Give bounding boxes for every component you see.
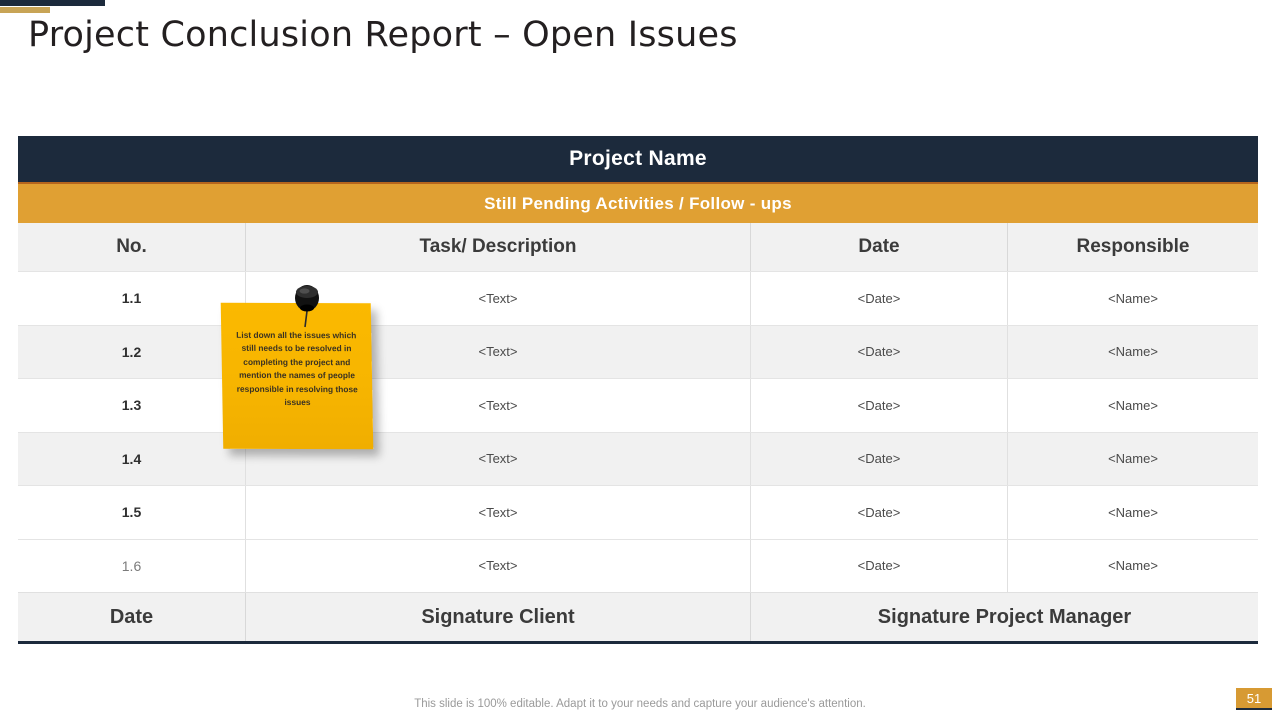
table-row[interactable]: 1.6 <Text> <Date> <Name>	[18, 539, 1258, 593]
cell-no: 1.4	[18, 433, 246, 486]
column-header-no: No.	[18, 223, 246, 271]
column-header-task: Task/ Description	[246, 223, 751, 271]
open-issues-table: Project Name Still Pending Activities / …	[18, 136, 1258, 644]
column-header-date: Date	[751, 223, 1008, 271]
table-header-row: No. Task/ Description Date Responsible	[18, 223, 1258, 271]
cell-task[interactable]: <Text>	[246, 540, 751, 593]
cell-no: 1.2	[18, 326, 246, 379]
cell-date[interactable]: <Date>	[751, 433, 1008, 486]
section-band: Still Pending Activities / Follow - ups	[18, 182, 1258, 223]
page-number-badge: 51	[1236, 688, 1272, 710]
cell-date[interactable]: <Date>	[751, 379, 1008, 432]
signature-date-label: Date	[18, 593, 246, 641]
cell-no: 1.6	[18, 540, 246, 593]
cell-date[interactable]: <Date>	[751, 272, 1008, 325]
table-row[interactable]: 1.3 <Text> <Date> <Name>	[18, 378, 1258, 432]
page-title: Project Conclusion Report – Open Issues	[28, 15, 738, 55]
cell-date[interactable]: <Date>	[751, 486, 1008, 539]
column-header-responsible: Responsible	[1008, 223, 1258, 271]
project-name-band: Project Name	[18, 136, 1258, 182]
cell-date[interactable]: <Date>	[751, 540, 1008, 593]
cell-responsible[interactable]: <Name>	[1008, 433, 1258, 486]
signature-client-label: Signature Client	[246, 593, 751, 641]
table-row[interactable]: 1.4 <Text> <Date> <Name>	[18, 432, 1258, 486]
cell-responsible[interactable]: <Name>	[1008, 486, 1258, 539]
title-decoration-bar-dark	[0, 0, 105, 6]
table-row[interactable]: 1.1 <Text> <Date> <Name>	[18, 271, 1258, 325]
title-decoration-bar-gold	[0, 7, 50, 13]
signature-project-manager-label: Signature Project Manager	[751, 593, 1258, 641]
cell-no: 1.5	[18, 486, 246, 539]
cell-responsible[interactable]: <Name>	[1008, 326, 1258, 379]
table-row[interactable]: 1.2 <Text> <Date> <Name>	[18, 325, 1258, 379]
signature-row: Date Signature Client Signature Project …	[18, 592, 1258, 644]
cell-responsible[interactable]: <Name>	[1008, 272, 1258, 325]
table-row[interactable]: 1.5 <Text> <Date> <Name>	[18, 485, 1258, 539]
cell-responsible[interactable]: <Name>	[1008, 540, 1258, 593]
pushpin-icon	[290, 283, 324, 329]
cell-no: 1.3	[18, 379, 246, 432]
slide-canvas: Project Conclusion Report – Open Issues …	[0, 0, 1280, 720]
cell-date[interactable]: <Date>	[751, 326, 1008, 379]
cell-no: 1.1	[18, 272, 246, 325]
sticky-note-text: List down all the issues which still nee…	[229, 329, 364, 410]
editable-slide-note: This slide is 100% editable. Adapt it to…	[0, 698, 1280, 710]
cell-responsible[interactable]: <Name>	[1008, 379, 1258, 432]
cell-task[interactable]: <Text>	[246, 486, 751, 539]
